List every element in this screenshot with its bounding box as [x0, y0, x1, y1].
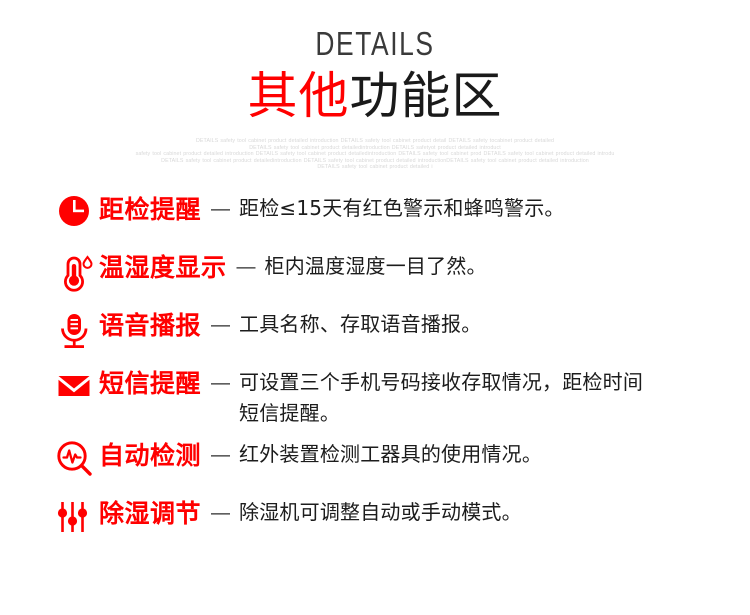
list-item-description: 可设置三个手机号码接收存取情况，距检时间短信提醒。 [239, 367, 655, 429]
list-item-label: 自动检测 [99, 439, 201, 473]
list-item-description: 红外装置检测工器具的使用情况。 [239, 439, 542, 470]
magnifier-pulse-icon [55, 439, 99, 479]
filler-line: safety tool cabinet product detailed int… [105, 151, 645, 158]
page-title-highlight: 其他 [248, 67, 350, 125]
list-item: 除湿调节 — 除湿机可调整自动或手动模式。 [55, 497, 750, 555]
list-item-separator: — [201, 497, 239, 531]
filler-line: DETAILS safety tool cabinet product deta… [125, 158, 625, 165]
list-item-label: 除湿调节 [99, 497, 201, 531]
filler-line: DETAILS safety tool cabinet product deta… [260, 164, 490, 171]
feature-list: 距检提醒 — 距检≤15天有红色警示和蜂鸣警示。 温湿度显示 — 柜内温度湿度一… [0, 193, 750, 555]
list-item: 语音播报 — 工具名称、存取语音播报。 [55, 309, 750, 367]
list-item-description: 工具名称、存取语音播报。 [239, 309, 481, 340]
list-item-description: 除湿机可调整自动或手动模式。 [239, 497, 522, 528]
list-item-separator: — [227, 251, 265, 285]
filler-line: DETAILS safety tool cabinet product deta… [145, 138, 605, 145]
list-item-separator: — [201, 193, 239, 227]
clock-icon [55, 193, 99, 233]
list-item: 距检提醒 — 距检≤15天有红色警示和蜂鸣警示。 [55, 193, 750, 251]
list-item-separator: — [201, 309, 239, 343]
list-item-separator: — [201, 367, 239, 401]
list-item-separator: — [201, 439, 239, 473]
list-item-label: 短信提醒 [99, 367, 201, 401]
details-feature-page: DETAILS 其他功能区 DETAILS safety tool cabine… [0, 0, 750, 615]
sliders-icon [55, 497, 99, 537]
microphone-icon [55, 309, 99, 349]
list-item: 自动检测 — 红外装置检测工器具的使用情况。 [55, 439, 750, 497]
page-kicker: DETAILS [75, 26, 675, 62]
page-title-rest: 功能区 [350, 67, 503, 125]
list-item: 温湿度显示 — 柜内温度湿度一目了然。 [55, 251, 750, 309]
page-header: DETAILS 其他功能区 DETAILS safety tool cabine… [0, 0, 750, 171]
filler-line: DETAILS safety tool cabinet product deta… [185, 145, 565, 152]
list-item-label: 温湿度显示 [99, 251, 227, 285]
filler-paragraph: DETAILS safety tool cabinet product deta… [95, 138, 655, 171]
list-item-description: 距检≤15天有红色警示和蜂鸣警示。 [239, 193, 565, 224]
list-item-description: 柜内温度湿度一目了然。 [265, 251, 487, 282]
thermometer-humidity-icon [55, 251, 99, 291]
list-item-label: 距检提醒 [99, 193, 201, 227]
list-item-label: 语音播报 [99, 309, 201, 343]
envelope-icon [55, 367, 99, 407]
page-title: 其他功能区 [0, 68, 750, 124]
list-item: 短信提醒 — 可设置三个手机号码接收存取情况，距检时间短信提醒。 [55, 367, 750, 439]
